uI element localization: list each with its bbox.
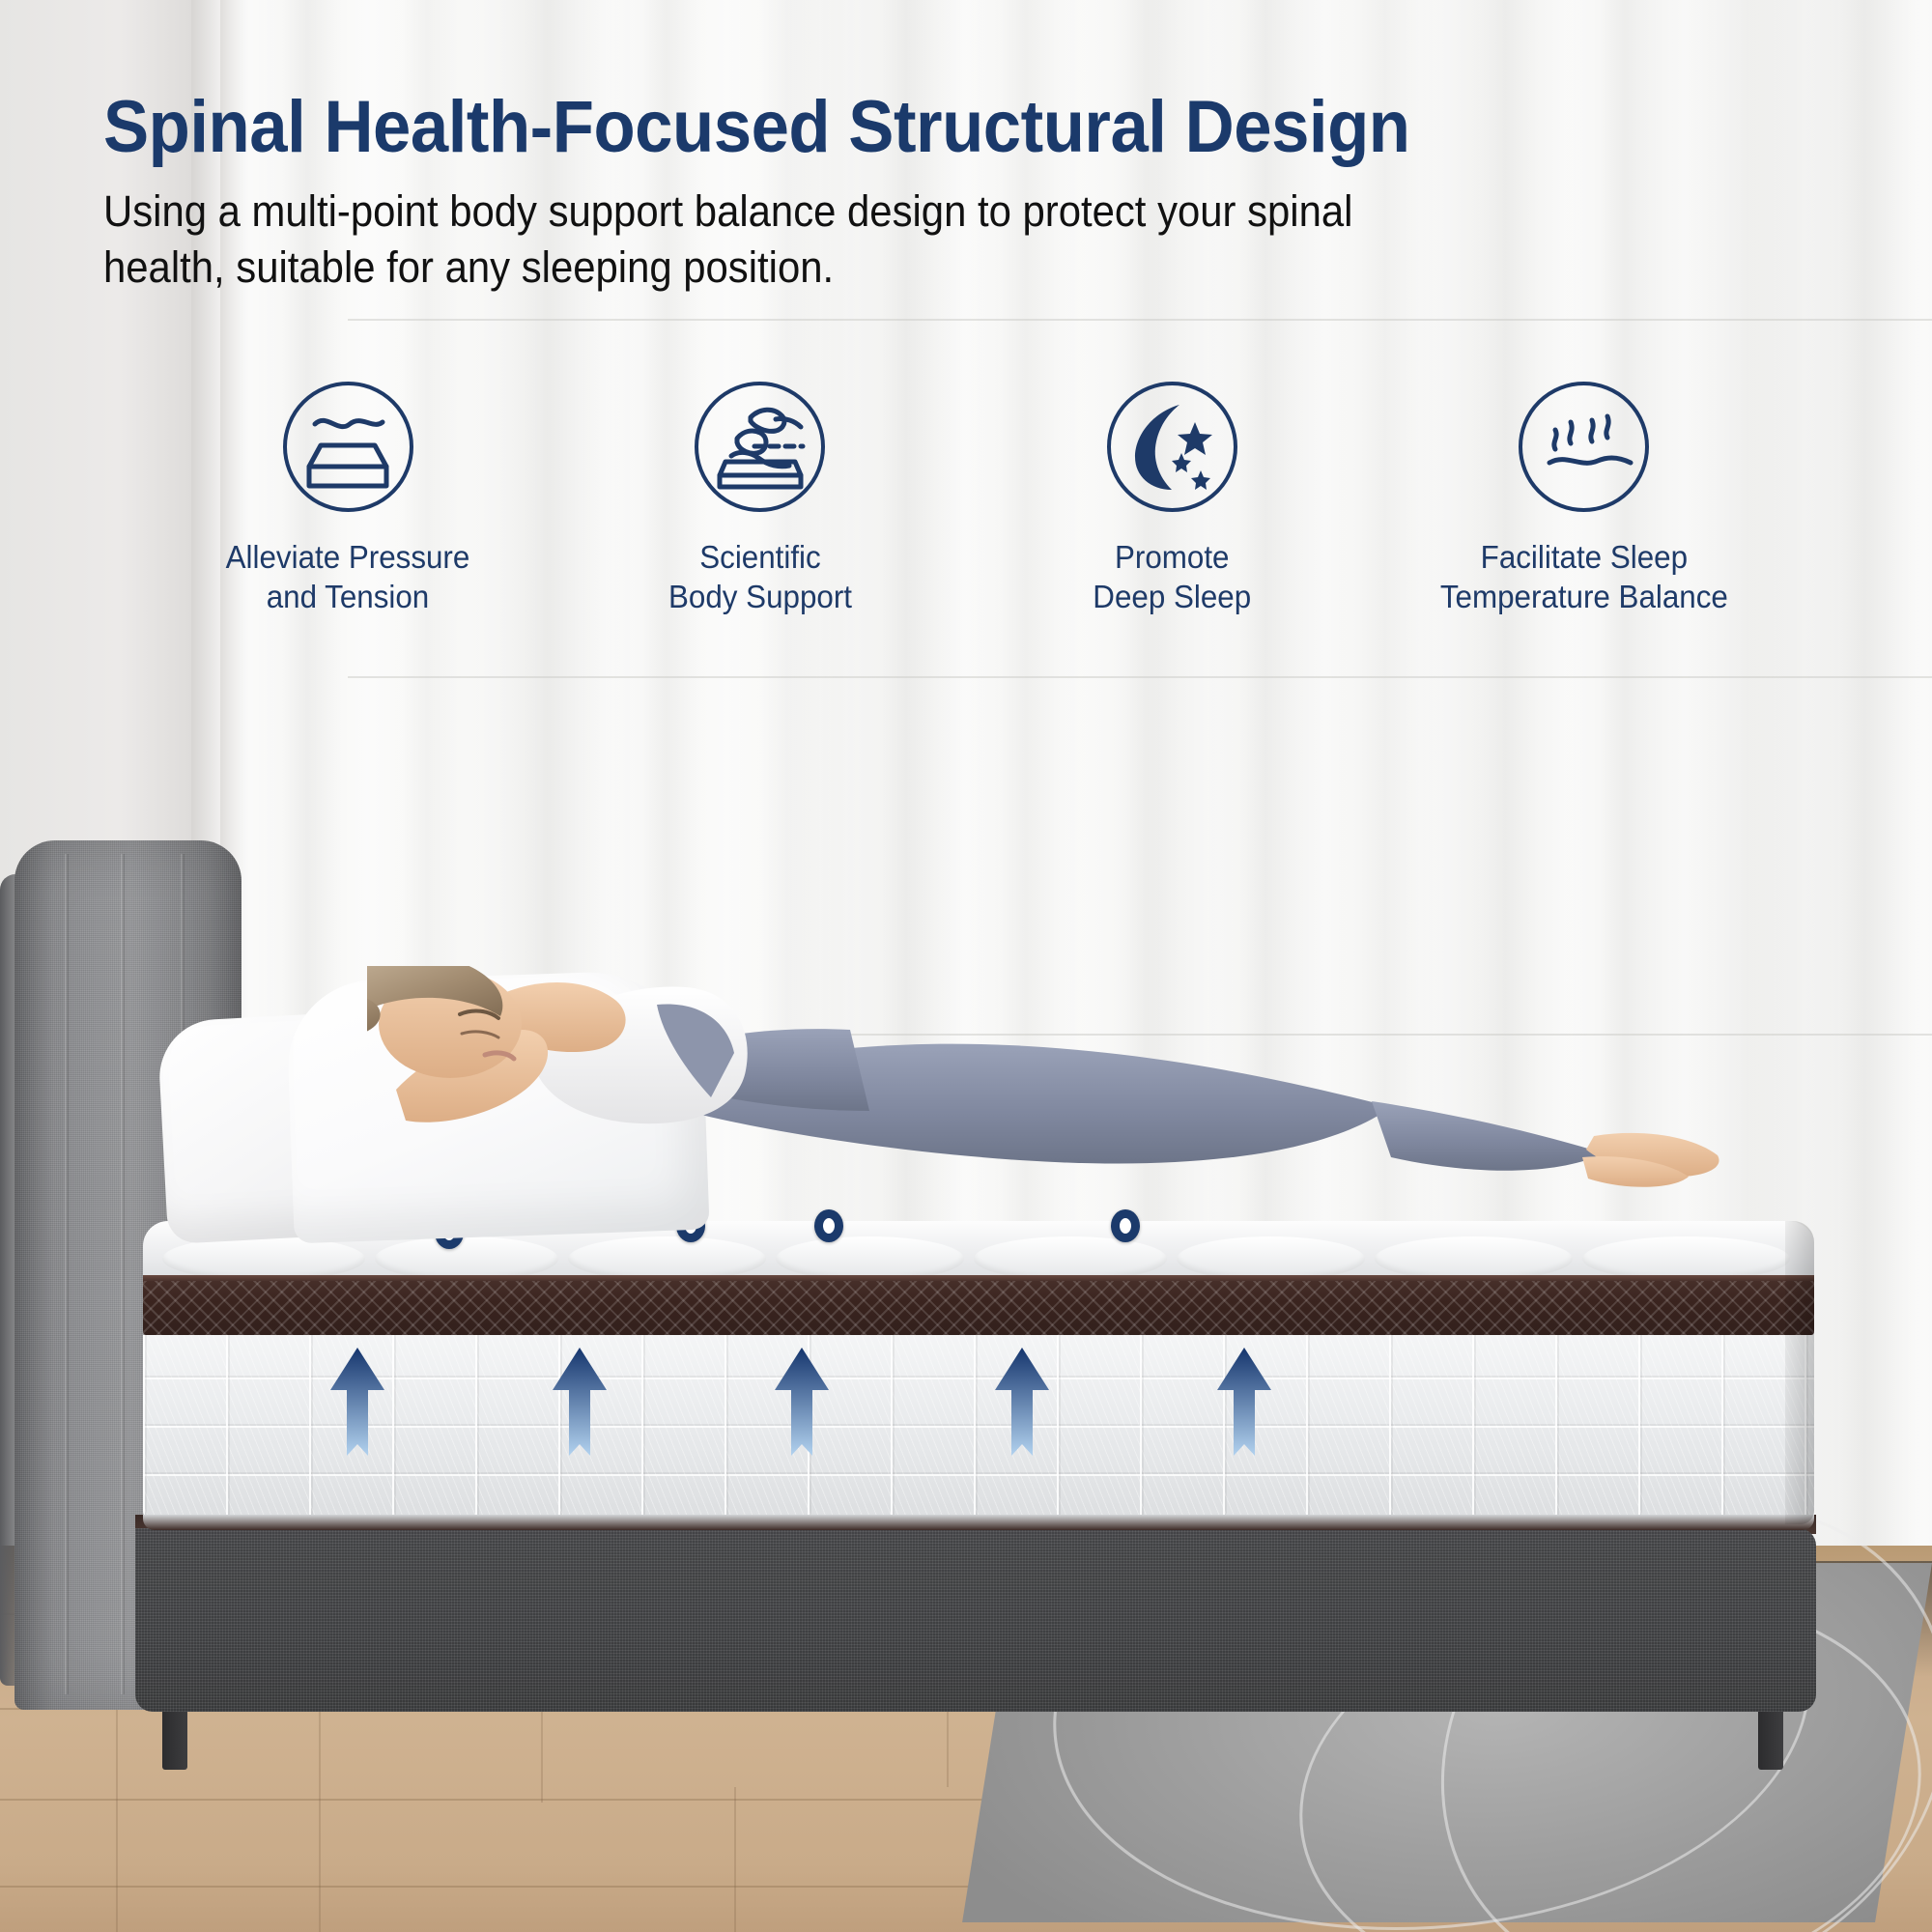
feature-label: Promote Deep Sleep <box>1093 537 1251 617</box>
mattress-border-band <box>143 1275 1814 1335</box>
window-mullion <box>348 319 1932 321</box>
feature-label: Facilitate Sleep Temperature Balance <box>1440 537 1728 617</box>
mattress-right-edge <box>1785 1221 1814 1524</box>
body-support-posture-icon <box>695 382 825 512</box>
support-arrow-icon <box>551 1348 609 1473</box>
mattress-wave-icon <box>283 382 413 512</box>
support-arrow-icon <box>1215 1348 1273 1473</box>
support-arrow-icon <box>328 1348 386 1473</box>
mattress-quilt-texture <box>143 1335 1814 1524</box>
feature-list: Alleviate Pressure and Tension <box>155 382 1777 623</box>
feature-item-alleviate-pressure[interactable]: Alleviate Pressure and Tension <box>155 382 541 617</box>
mattress-band-mesh-texture <box>143 1275 1814 1335</box>
sleeping-woman <box>367 966 1739 1256</box>
mattress <box>143 1229 1814 1530</box>
feature-label: Scientific Body Support <box>668 537 852 617</box>
feature-item-deep-sleep[interactable]: Promote Deep Sleep <box>979 382 1365 617</box>
bed-foundation <box>135 1528 1816 1712</box>
mattress-bottom-edge <box>143 1515 1814 1530</box>
support-arrow-icon <box>993 1348 1051 1473</box>
window-mullion <box>348 676 1932 678</box>
mattress-support-body <box>143 1335 1814 1524</box>
feature-item-body-support[interactable]: Scientific Body Support <box>567 382 953 617</box>
feature-label: Alleviate Pressure and Tension <box>226 537 470 617</box>
foundation-fabric-texture <box>135 1528 1816 1712</box>
product-marketing-image: Spinal Health-Focused Structural Design … <box>0 0 1932 1932</box>
page-subtitle: Using a multi-point body support balance… <box>103 184 1379 295</box>
heat-waves-icon <box>1519 382 1649 512</box>
page-title: Spinal Health-Focused Structural Design <box>103 85 1410 169</box>
feature-item-temperature-balance[interactable]: Facilitate Sleep Temperature Balance <box>1391 382 1777 617</box>
support-arrow-icon <box>773 1348 831 1473</box>
crescent-moon-stars-icon <box>1107 382 1237 512</box>
